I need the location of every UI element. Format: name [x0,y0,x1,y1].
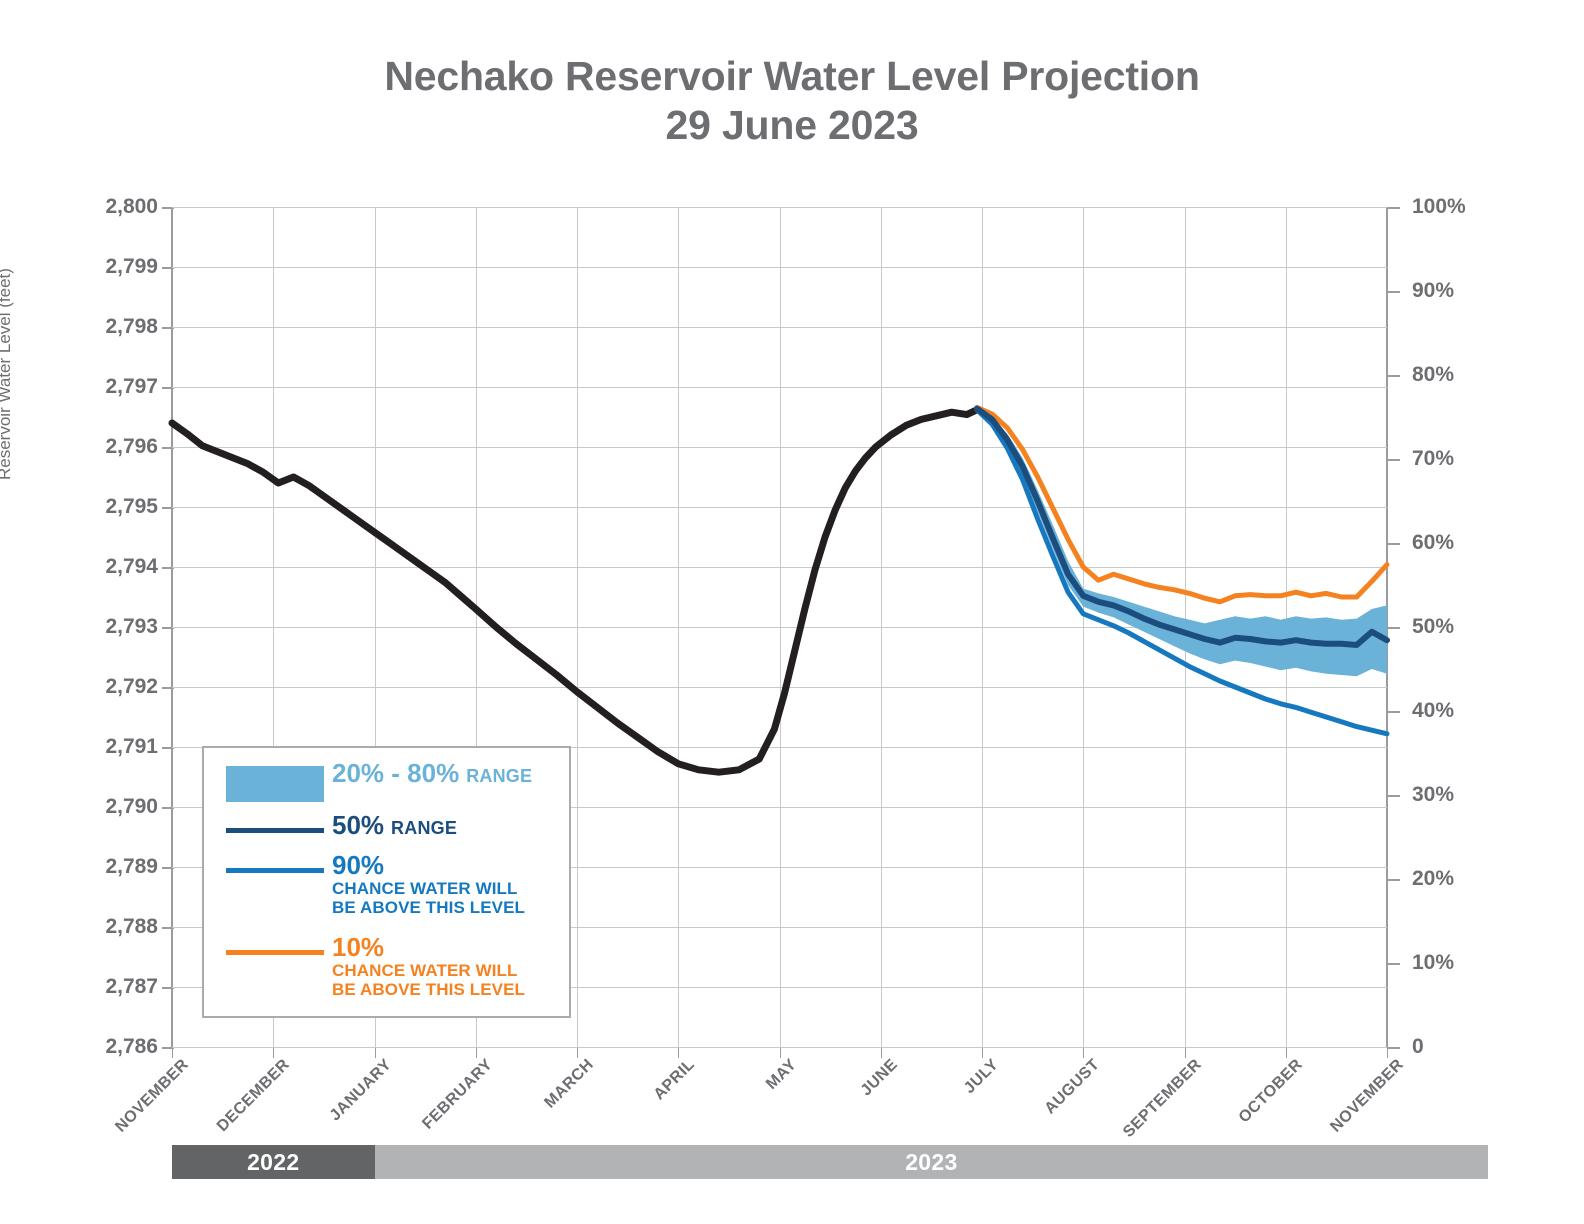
year-band-bar: 20222023 [172,1145,1387,1179]
y-axis-tick-label: 2,793 [48,616,158,637]
y-axis-tick-label: 2,788 [48,916,158,937]
y-axis-right-tick-label: 10% [1412,952,1502,973]
y-axis-right-tick-mark [1388,963,1400,965]
series-line-p90 [977,410,1387,734]
x-axis-tick-mark [881,1047,882,1058]
y-axis-tick-label: 2,791 [48,736,158,757]
year-band-2022: 2022 [172,1145,375,1179]
legend-swatch-line-median-50 [226,828,324,833]
x-axis-tick-mark [577,1047,578,1058]
x-axis-tick-mark [1387,1047,1388,1058]
y-axis-tick-label: 2,799 [48,256,158,277]
y-axis-right-tick-mark [1388,459,1400,461]
x-axis-tick-mark [476,1047,477,1058]
x-axis-tick-mark [780,1047,781,1058]
legend-primary-band-20-80: 20% - 80% [332,758,459,788]
y-axis-tick-label: 2,786 [48,1036,158,1057]
y-axis-tick-label: 2,798 [48,316,158,337]
y-axis-right-tick-mark [1388,879,1400,881]
y-axis-right-tick-label: 50% [1412,616,1502,637]
y-axis-right-tick-mark [1388,711,1400,713]
x-axis-tick-mark [1083,1047,1084,1058]
year-band-2023: 2023 [375,1145,1489,1179]
chart-legend: 20% - 80%RANGE50%RANGE90%CHANCE WATER WI… [202,746,571,1018]
page-title: Nechako Reservoir Water Level Projection… [0,52,1584,150]
x-axis-tick-mark [1286,1047,1287,1058]
y-axis-tick-label: 2,792 [48,676,158,697]
legend-swatch-box-band-20-80 [226,766,324,802]
x-axis-tick-mark [375,1047,376,1058]
y-axis-right-tick-mark [1388,627,1400,629]
legend-secondary-band-20-80: RANGE [466,766,532,786]
y-axis-right-tick-mark [1388,207,1400,209]
y-axis-right-tick-label: 100% [1412,196,1502,217]
chart-title-line1: Nechako Reservoir Water Level Projection [384,53,1199,99]
y-axis-tick-label: 2,789 [48,856,158,877]
y-axis-right-tick-label: 40% [1412,700,1502,721]
y-axis-right-tick-mark [1388,375,1400,377]
y-axis-title: Reservoir Water Level (feet) [0,230,13,480]
y-axis-tick-label: 2,787 [48,976,158,997]
legend-detail-p90: CHANCE WATER WILL [332,879,525,898]
legend-detail-p90: BE ABOVE THIS LEVEL [332,898,525,917]
y-axis-tick-label: 2,794 [48,556,158,577]
y-axis-tick-label: 2,795 [48,496,158,517]
legend-swatch-line-p10 [226,950,324,955]
y-axis-right-tick-mark [1388,1047,1400,1049]
y-axis-right-tick-mark [1388,291,1400,293]
x-axis-tick-mark [273,1047,274,1058]
y-axis-tick-label: 2,800 [48,196,158,217]
legend-primary-p90: 90% [332,850,384,880]
y-axis-right-tick-label: 20% [1412,868,1502,889]
x-axis-tick-mark [172,1047,173,1058]
legend-label-p10: 10%CHANCE WATER WILLBE ABOVE THIS LEVEL [332,934,525,999]
legend-label-band-20-80: 20% - 80%RANGE [332,760,532,787]
series-line-historical [172,410,977,772]
grid-line-horizontal [172,1047,1387,1048]
y-axis-right-tick-label: 0 [1412,1036,1502,1057]
legend-swatch-line-p90 [226,868,324,873]
y-axis-tick-label: 2,790 [48,796,158,817]
y-axis-right-tick-label: 80% [1412,364,1502,385]
legend-label-median-50: 50%RANGE [332,812,457,839]
legend-detail-p10: BE ABOVE THIS LEVEL [332,980,525,999]
y-axis-right-tick-label: 90% [1412,280,1502,301]
chart-title-line2: 29 June 2023 [0,101,1584,150]
legend-label-p90: 90%CHANCE WATER WILLBE ABOVE THIS LEVEL [332,852,525,917]
band-20-80-area [977,408,1387,676]
y-axis-tick-label: 2,796 [48,436,158,457]
y-axis-tick-label: 2,797 [48,376,158,397]
legend-detail-p10: CHANCE WATER WILL [332,961,525,980]
x-axis-tick-mark [1185,1047,1186,1058]
x-axis-tick-mark [982,1047,983,1058]
y-axis-right-tick-label: 30% [1412,784,1502,805]
x-axis-tick-mark [678,1047,679,1058]
legend-primary-median-50: 50% [332,810,384,840]
y-axis-right-tick-label: 60% [1412,532,1502,553]
legend-primary-p10: 10% [332,932,384,962]
y-axis-right-tick-label: 70% [1412,448,1502,469]
legend-secondary-median-50: RANGE [391,818,457,838]
y-axis-right-tick-mark [1388,543,1400,545]
y-axis-right-tick-mark [1388,795,1400,797]
